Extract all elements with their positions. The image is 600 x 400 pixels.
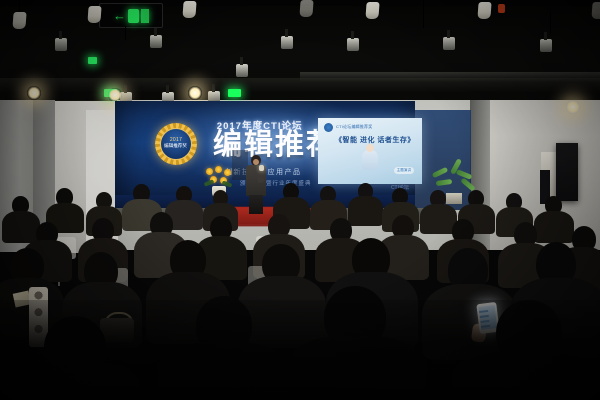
pa-speaker — [556, 143, 578, 201]
badge-text: 编辑推荐奖 — [164, 144, 187, 149]
pendant-light-icon — [365, 2, 379, 19]
track-light-icon — [347, 38, 359, 51]
plant-pot — [446, 193, 462, 204]
screen-pill-label: 主题演讲 — [394, 167, 414, 174]
foreground-shadow — [0, 300, 600, 400]
pendant-light-icon — [299, 0, 313, 17]
screen-logo-icon — [324, 123, 333, 132]
screen-logo-text: CTI论坛编辑推荐奖 — [336, 124, 372, 130]
exit-sign-icon: ← — [99, 3, 163, 28]
exit-door-icon — [141, 9, 149, 23]
track-light-icon — [236, 64, 248, 77]
track-light-icon — [540, 39, 552, 52]
pendant-light-icon — [182, 1, 196, 18]
presenter-legs — [249, 195, 263, 214]
track-light-icon — [281, 36, 293, 49]
pendant-light-icon — [477, 2, 491, 19]
projection-screen: CTI论坛编辑推荐奖 《智能 进化 话者生存》 主题演讲 — [318, 118, 422, 184]
screen-title: 《智能 进化 话者生存》 — [335, 135, 415, 145]
stage-presenter — [245, 155, 267, 213]
exit-sign-small-icon-3 — [88, 57, 97, 64]
ceiling-soffit — [300, 72, 600, 82]
award-badge-icon: 2017 编辑推荐奖 — [155, 123, 197, 165]
track-light-icon — [443, 37, 455, 50]
red-clip-icon — [498, 4, 505, 13]
track-light-icon — [55, 38, 67, 51]
pendant-light-icon — [87, 6, 101, 23]
pendant-light-icon — [591, 2, 600, 19]
exit-sign-small-icon-2 — [228, 89, 241, 97]
badge-inner: 2017 编辑推荐奖 — [160, 128, 192, 160]
stage-spotlight-glow — [108, 88, 122, 102]
pendant-light-icon — [12, 12, 26, 29]
stage-spotlight-glow — [188, 86, 202, 100]
microphone-icon — [259, 165, 264, 171]
stage-spotlight-glow — [566, 100, 580, 114]
screen-person-illustration — [362, 150, 378, 170]
light-cable — [550, 12, 551, 34]
stage-spotlight-glow — [27, 86, 41, 100]
track-light-icon — [150, 35, 162, 48]
light-cable — [423, 0, 424, 28]
light-cable — [125, 26, 126, 40]
conference-photo: ← 2017 编辑推荐奖 2017年度CTI论坛 — [0, 0, 600, 400]
exit-arrow-icon: ← — [113, 9, 126, 22]
running-man-icon — [128, 9, 139, 23]
